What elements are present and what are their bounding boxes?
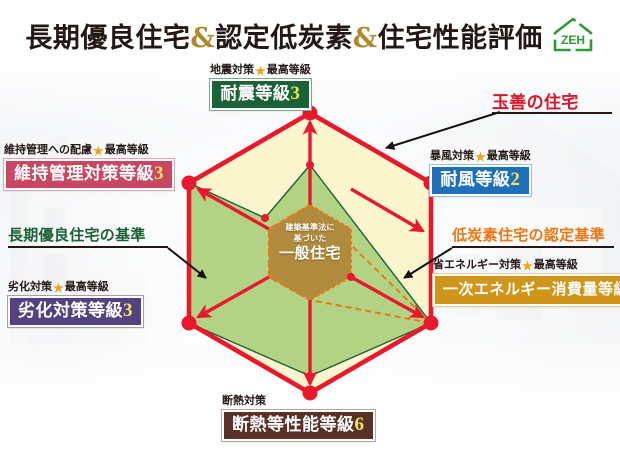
badge-wind-grade-text: 耐風等級 xyxy=(440,170,510,189)
badge-wind-box: 耐風等級2 xyxy=(430,165,531,196)
zeh-logo: ZEH xyxy=(551,16,595,54)
badge-maintenance-box: 維持管理対策等級3 xyxy=(4,159,174,190)
callout-teitanso-label: 低炭素住宅の認定基準 xyxy=(452,228,614,245)
badge-insulation-caption-text: 断熱対策 xyxy=(222,395,266,408)
badge-wind-caption-suffix: 最高等級 xyxy=(487,150,531,163)
badge-maintenance-caption: 維持管理への配慮 ★ 最高等級 xyxy=(4,144,174,157)
badge-energy: 省エネルギー対策 ★ 最高等級 一次エネルギー消費量等級6 xyxy=(433,259,620,306)
badge-degradation-caption-suffix: 最高等級 xyxy=(65,281,109,294)
badge-quake: 地震対策 ★ 最高等級 耐震等級3 xyxy=(210,64,311,110)
badge-wind-caption-text: 暴風対策 xyxy=(430,150,474,163)
callout-choki-yuryo-rule xyxy=(8,246,168,248)
zeh-logo-text: ZEH xyxy=(561,33,585,47)
badge-wind-caption: 暴風対策 ★ 最高等級 xyxy=(430,150,531,163)
callout-choki-yuryo-label: 長期優良住宅の基準 xyxy=(8,228,168,245)
badge-energy-caption-suffix: 最高等級 xyxy=(534,259,578,272)
badge-insulation-grade-value: 6 xyxy=(355,414,365,435)
badge-quake-caption-text: 地震対策 xyxy=(210,64,254,77)
badge-insulation-caption: 断熱対策 xyxy=(222,395,375,408)
page-title: 長期優良住宅&認定低炭素&住宅性能評価 xyxy=(25,16,542,55)
badge-maintenance: 維持管理への配慮 ★ 最高等級 維持管理対策等級3 xyxy=(4,144,174,190)
badge-quake-grade-text: 耐震等級 xyxy=(220,84,290,103)
badge-degradation-caption: 劣化対策 ★ 最高等級 xyxy=(8,281,143,294)
badge-quake-caption: 地震対策 ★ 最高等級 xyxy=(210,64,311,77)
badge-energy-box: 一次エネルギー消費量等級6 xyxy=(433,274,620,306)
badge-quake-grade-value: 3 xyxy=(290,83,300,104)
badge-insulation: 断熱対策 断熱等性能等級6 xyxy=(222,395,375,441)
callout-tamazen-rule xyxy=(492,112,612,114)
badge-insulation-grade-text: 断熱等性能等級 xyxy=(232,415,355,434)
badge-maintenance-grade-value: 3 xyxy=(154,163,164,184)
title-amp-1: & xyxy=(190,23,215,54)
title-part-2: 認定低炭素 xyxy=(215,23,353,54)
badge-degradation-caption-text: 劣化対策 xyxy=(8,281,52,294)
badge-energy-grade-text: 一次エネルギー消費量等級 xyxy=(443,282,620,298)
badge-quake-caption-suffix: 最高等級 xyxy=(267,64,311,77)
badge-degradation-box: 劣化対策等級3 xyxy=(8,296,143,327)
callout-tamazen: 玉善の住宅 xyxy=(492,94,612,114)
badge-energy-caption: 省エネルギー対策 ★ 最高等級 xyxy=(433,259,620,272)
infographic-root: 長期優良住宅&認定低炭素&住宅性能評価 ZEH xyxy=(0,0,620,464)
badge-maintenance-grade-text: 維持管理対策等級 xyxy=(14,164,154,183)
badge-wind-grade-value: 2 xyxy=(510,169,520,190)
page-title-row: 長期優良住宅&認定低炭素&住宅性能評価 ZEH xyxy=(0,12,620,58)
badge-insulation-box: 断熱等性能等級6 xyxy=(222,410,375,441)
star-icon: ★ xyxy=(522,260,533,272)
callout-tamazen-label: 玉善の住宅 xyxy=(492,94,612,111)
badge-maintenance-caption-text: 維持管理への配慮 xyxy=(4,144,92,157)
star-icon: ★ xyxy=(255,65,266,77)
leader-tamazen xyxy=(386,112,500,148)
star-icon: ★ xyxy=(475,151,486,163)
badge-energy-caption-text: 省エネルギー対策 xyxy=(433,259,521,272)
callout-teitanso: 低炭素住宅の認定基準 xyxy=(452,228,614,248)
title-amp-2: & xyxy=(353,23,378,54)
star-icon: ★ xyxy=(93,145,104,157)
badge-degradation: 劣化対策 ★ 最高等級 劣化対策等級3 xyxy=(8,281,143,327)
badge-maintenance-caption-suffix: 最高等級 xyxy=(105,144,149,157)
title-part-1: 長期優良住宅 xyxy=(25,23,190,54)
badge-degradation-grade-value: 3 xyxy=(123,300,133,321)
zeh-house-icon: ZEH xyxy=(551,16,595,54)
title-part-3: 住宅性能評価 xyxy=(378,23,543,54)
badge-wind: 暴風対策 ★ 最高等級 耐風等級2 xyxy=(430,150,531,196)
badge-quake-box: 耐震等級3 xyxy=(210,79,311,110)
star-icon: ★ xyxy=(53,282,64,294)
callout-choki-yuryo: 長期優良住宅の基準 xyxy=(8,228,168,248)
callout-teitanso-rule xyxy=(452,246,614,248)
badge-degradation-grade-text: 劣化対策等級 xyxy=(18,301,123,320)
